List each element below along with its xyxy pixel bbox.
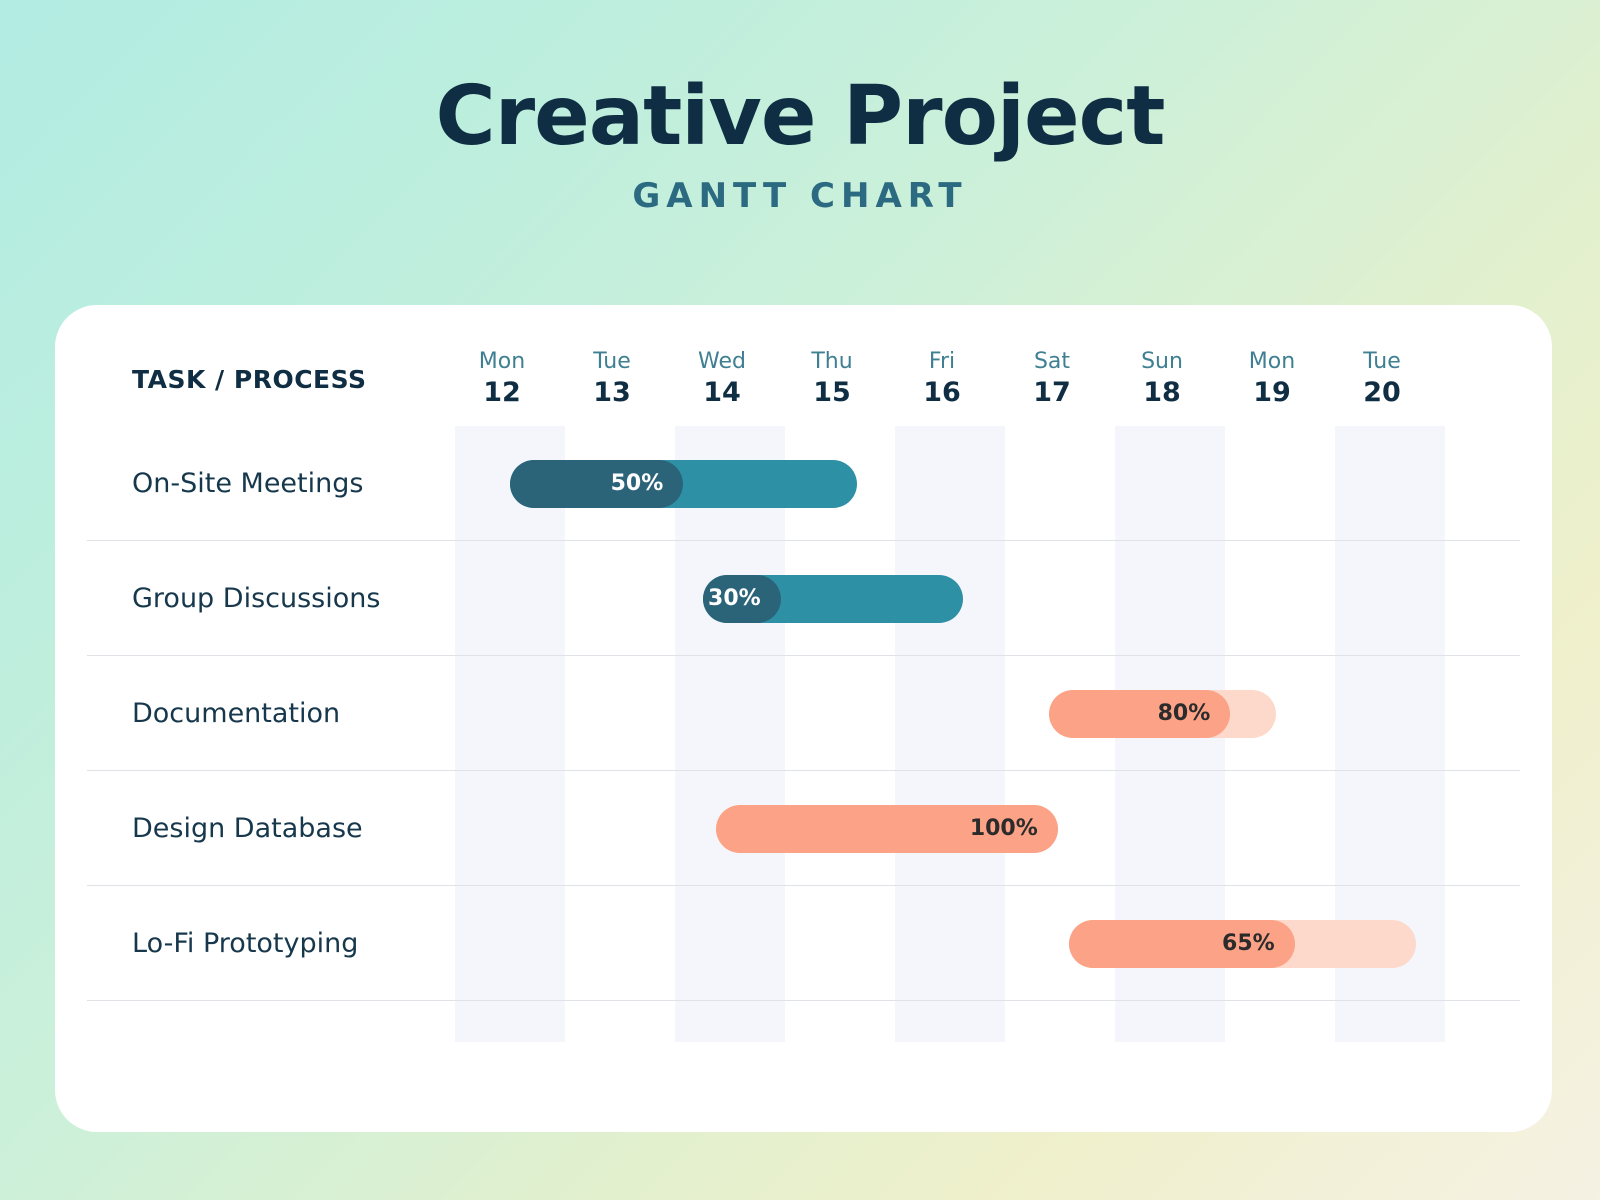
page-header: Creative Project GANTT CHART xyxy=(0,0,1600,216)
day-header-thu-15: Thu15 xyxy=(777,348,887,409)
task-track-area: 100% xyxy=(447,771,1552,886)
gantt-bar-progress-fill: 50% xyxy=(510,460,683,508)
day-number: 18 xyxy=(1107,376,1217,410)
gantt-bar-progress-fill: 80% xyxy=(1049,690,1230,738)
task-label: Design Database xyxy=(55,813,447,844)
day-number: 14 xyxy=(667,376,777,410)
task-track-area: 50% xyxy=(447,426,1552,541)
gantt-rows: On-Site Meetings50%Group Discussions30%D… xyxy=(55,426,1552,1001)
task-track-area: 30% xyxy=(447,541,1552,656)
day-name: Tue xyxy=(1327,348,1437,376)
day-name: Sun xyxy=(1107,348,1217,376)
day-name: Fri xyxy=(887,348,997,376)
table-row[interactable]: Lo-Fi Prototyping65% xyxy=(55,886,1552,1001)
day-header-mon-12: Mon12 xyxy=(447,348,557,409)
day-header-tue-20: Tue20 xyxy=(1327,348,1437,409)
day-header-mon-19: Mon19 xyxy=(1217,348,1327,409)
progress-percent-label: 50% xyxy=(611,471,684,496)
table-row[interactable]: On-Site Meetings50% xyxy=(55,426,1552,541)
table-row[interactable]: Group Discussions30% xyxy=(55,541,1552,656)
task-label: Lo-Fi Prototyping xyxy=(55,928,447,959)
progress-percent-label: 100% xyxy=(970,816,1058,841)
day-number: 13 xyxy=(557,376,667,410)
task-track-area: 80% xyxy=(447,656,1552,771)
day-name: Mon xyxy=(1217,348,1327,376)
page-title: Creative Project xyxy=(0,74,1600,160)
day-header-fri-16: Fri16 xyxy=(887,348,997,409)
gantt-bar-progress-fill: 65% xyxy=(1069,920,1295,968)
day-number: 17 xyxy=(997,376,1107,410)
gantt-bar[interactable]: 50% xyxy=(510,460,857,508)
day-number: 19 xyxy=(1217,376,1327,410)
day-header-sun-18: Sun18 xyxy=(1107,348,1217,409)
gantt-bar[interactable]: 30% xyxy=(703,575,964,623)
progress-percent-label: 80% xyxy=(1158,701,1231,726)
gantt-bar[interactable]: 100% xyxy=(716,805,1058,853)
gantt-header-row: TASK / PROCESS Mon12Tue13Wed14Thu15Fri16… xyxy=(55,333,1552,425)
day-name: Thu xyxy=(777,348,887,376)
task-column-header: TASK / PROCESS xyxy=(55,365,447,394)
day-number: 15 xyxy=(777,376,887,410)
task-label: Documentation xyxy=(55,698,447,729)
table-row[interactable]: Design Database100% xyxy=(55,771,1552,886)
day-number: 12 xyxy=(447,376,557,410)
progress-percent-label: 30% xyxy=(708,586,781,611)
gantt-bar-progress-fill: 100% xyxy=(716,805,1058,853)
day-header-wed-14: Wed14 xyxy=(667,348,777,409)
day-name: Wed xyxy=(667,348,777,376)
task-label: Group Discussions xyxy=(55,583,447,614)
day-name: Tue xyxy=(557,348,667,376)
gantt-bar[interactable]: 80% xyxy=(1049,690,1276,738)
progress-percent-label: 65% xyxy=(1222,931,1295,956)
task-track-area: 65% xyxy=(447,886,1552,1001)
gantt-bar-progress-fill: 30% xyxy=(703,575,781,623)
page-subtitle: GANTT CHART xyxy=(0,176,1600,216)
day-headers: Mon12Tue13Wed14Thu15Fri16Sat17Sun18Mon19… xyxy=(447,348,1437,409)
row-divider xyxy=(87,1000,1520,1001)
day-number: 16 xyxy=(887,376,997,410)
gantt-chart-card: TASK / PROCESS Mon12Tue13Wed14Thu15Fri16… xyxy=(55,305,1552,1132)
table-row[interactable]: Documentation80% xyxy=(55,656,1552,771)
task-label: On-Site Meetings xyxy=(55,468,447,499)
day-header-tue-13: Tue13 xyxy=(557,348,667,409)
day-header-sat-17: Sat17 xyxy=(997,348,1107,409)
day-number: 20 xyxy=(1327,376,1437,410)
day-name: Mon xyxy=(447,348,557,376)
day-name: Sat xyxy=(997,348,1107,376)
gantt-bar[interactable]: 65% xyxy=(1069,920,1417,968)
gantt-grid: TASK / PROCESS Mon12Tue13Wed14Thu15Fri16… xyxy=(55,305,1552,1132)
